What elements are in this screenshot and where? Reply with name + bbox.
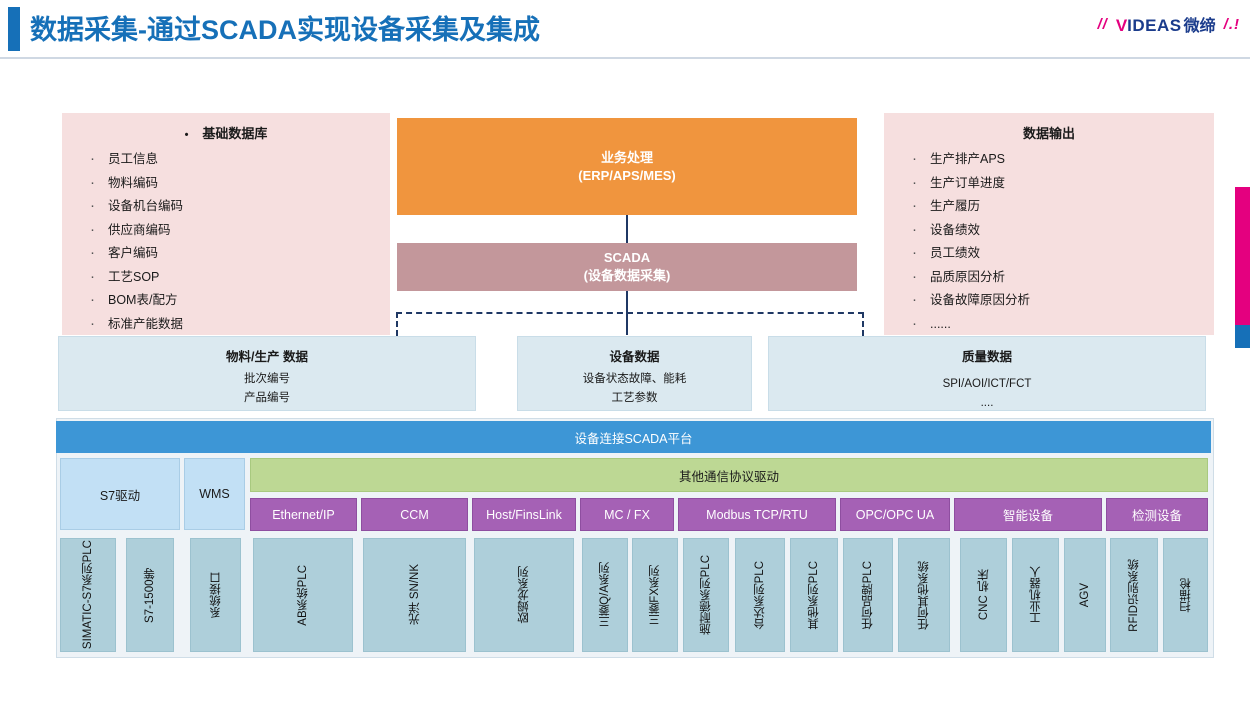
protocol-tile-inspection-device[interactable]: 检测设备	[1106, 498, 1208, 531]
list-item: 标准产能数据	[62, 313, 390, 337]
data-box-line: 工艺参数	[612, 389, 658, 408]
list-item: 设备机台编码	[62, 195, 390, 219]
protocol-tile-opc[interactable]: OPC/OPC UA	[840, 498, 950, 531]
business-processing-line2: (ERP/APS/MES)	[578, 167, 676, 185]
protocol-tile-host-finslink[interactable]: Host/FinsLink	[472, 498, 576, 531]
device-tile-industrial-robot[interactable]: 工业机器人	[1012, 538, 1059, 652]
scada-line1: SCADA	[604, 249, 650, 267]
list-item: BOM表/配方	[62, 289, 390, 313]
list-item: 物料编码	[62, 172, 390, 196]
device-tile-s7-1500[interactable]: S7-1500等	[126, 538, 174, 652]
device-tile-rfid[interactable]: RFID识别系统	[1110, 538, 1158, 652]
data-box-line: 设备状态故障、能耗	[583, 370, 687, 389]
data-output-panel: 数据输出 生产排产APS 生产订单进度 生产履历 设备绩效 员工绩效 品质原因分…	[884, 113, 1214, 335]
edge-accent-blue	[1235, 325, 1250, 348]
device-tile-label: SIMATIC-S7系列PLC	[81, 540, 95, 649]
base-database-title: •基础数据库	[62, 123, 390, 142]
page-title: 数据采集-通过SCADA实现设备采集及集成	[30, 8, 540, 47]
device-tile-label: RFID识别系统	[1127, 559, 1141, 632]
device-tile-label: 台达系列PLC	[753, 561, 767, 629]
device-tile-label: 任何品牌PLC	[861, 561, 875, 629]
list-item: 品质原因分析	[884, 266, 1214, 290]
device-tile-cnc[interactable]: CNC 机床	[960, 538, 1007, 652]
device-tile-label: 扫描枪	[1179, 578, 1193, 613]
scada-line2: (设备数据采集)	[584, 267, 671, 285]
list-item: 工艺SOP	[62, 266, 390, 290]
device-tile-any-other-system[interactable]: 任何其他系统	[898, 538, 950, 652]
device-tile-label: AB系统PLC	[296, 565, 310, 626]
device-tile-label: CNC 机床	[977, 569, 991, 620]
list-item: ......	[884, 313, 1214, 337]
device-tile-label: 工业机器人	[1029, 566, 1043, 624]
other-protocol-driver-label: 其他通信协议驱动	[251, 466, 1207, 485]
data-box-line: SPI/AOI/ICT/FCT	[943, 375, 1032, 394]
scada-block: SCADA (设备数据采集)	[397, 243, 857, 291]
data-box-title: 物料/生产 数据	[226, 346, 308, 365]
data-output-title: 数据输出	[884, 123, 1214, 142]
device-tile-simatic-s7[interactable]: SIMATIC-S7系列PLC	[60, 538, 116, 652]
page-header: 数据采集-通过SCADA实现设备采集及集成 // VIDEAS微缔 /.!	[0, 0, 1250, 58]
protocol-tile-mc-fx[interactable]: MC / FX	[580, 498, 674, 531]
device-tile-ab-plc[interactable]: AB系统PLC	[253, 538, 353, 652]
list-item: 员工绩效	[884, 242, 1214, 266]
base-database-title-text: 基础数据库	[202, 126, 267, 141]
device-tile-label: 任何其他系统	[917, 561, 931, 630]
list-item: 供应商编码	[62, 219, 390, 243]
header-accent-bar	[8, 7, 20, 51]
bullet-icon: •	[185, 129, 189, 141]
device-tile-agv[interactable]: AGV	[1064, 538, 1106, 652]
driver-tile-wms[interactable]: WMS	[184, 458, 245, 530]
list-item: 员工信息	[62, 148, 390, 172]
connector-business-to-scada	[626, 215, 628, 243]
business-processing-line1: 业务处理	[601, 149, 653, 167]
device-tile-label: 三菱FX系列	[648, 565, 662, 626]
device-tile-label: 三菱Q/A系列	[598, 562, 612, 628]
header-divider	[0, 57, 1250, 59]
device-tile-delta[interactable]: 台达系列PLC	[735, 538, 785, 652]
logo-cn-name: 微缔	[1184, 18, 1216, 35]
data-box-equipment: 设备数据 设备状态故障、能耗 工艺参数	[517, 336, 752, 411]
device-tile-label: S7-1500等	[143, 568, 157, 623]
data-box-quality: 质量数据 SPI/AOI/ICT/FCT ....	[768, 336, 1206, 411]
other-protocol-driver-bar: 其他通信协议驱动	[250, 458, 1208, 492]
protocol-tile-ethernet-ip[interactable]: Ethernet/IP	[250, 498, 357, 531]
device-tile-schneider[interactable]: 施耐德系列PLC	[683, 538, 729, 652]
device-tile-mitsubishi-qa[interactable]: 三菱Q/A系列	[582, 538, 628, 652]
platform-title-bar: 设备连接SCADA平台	[56, 421, 1211, 453]
list-item: 生产订单进度	[884, 172, 1214, 196]
protocol-tile-smart-device[interactable]: 智能设备	[954, 498, 1102, 531]
device-tile-label: 欧姆龙系列	[517, 566, 531, 624]
list-item: 生产履历	[884, 195, 1214, 219]
device-tile-label: 施耐德系列PLC	[699, 555, 713, 635]
list-item: 客户编码	[62, 242, 390, 266]
data-output-list: 生产排产APS 生产订单进度 生产履历 设备绩效 员工绩效 品质原因分析 设备故…	[884, 148, 1214, 336]
logo-v-mark-icon: V	[1116, 16, 1127, 35]
data-box-line: 产品编号	[244, 389, 290, 408]
base-database-list: 员工信息 物料编码 设备机台编码 供应商编码 客户编码 工艺SOP BOM表/配…	[62, 148, 390, 336]
data-box-material: 物料/生产 数据 批次编号 产品编号	[58, 336, 476, 411]
list-item: 设备绩效	[884, 219, 1214, 243]
list-item: 生产排产APS	[884, 148, 1214, 172]
device-tile-label: AGV	[1078, 583, 1092, 607]
list-item: 设备故障原因分析	[884, 289, 1214, 313]
device-tile-label: 其他系列PLC	[807, 561, 821, 629]
device-tile-any-brand-plc[interactable]: 任何品牌PLC	[843, 538, 893, 652]
device-tile-omron[interactable]: 欧姆龙系列	[474, 538, 574, 652]
data-box-line: 批次编号	[244, 370, 290, 389]
data-box-line: ....	[981, 394, 994, 413]
driver-tile-s7[interactable]: S7驱动	[60, 458, 180, 530]
edge-accent-magenta	[1235, 187, 1250, 325]
device-tile-scanner[interactable]: 扫描枪	[1163, 538, 1208, 652]
device-tile-label: 光洋 SN/NK	[408, 564, 422, 625]
protocol-tile-ccm[interactable]: CCM	[361, 498, 468, 531]
data-box-title: 质量数据	[962, 346, 1012, 365]
logo-slashes-right-icon: /.!	[1224, 16, 1240, 33]
logo-slashes-left-icon: //	[1097, 16, 1107, 33]
device-tile-system-interface[interactable]: 系统接口	[190, 538, 241, 652]
logo-wordmark: IDEAS	[1127, 16, 1181, 35]
base-database-panel: •基础数据库 员工信息 物料编码 设备机台编码 供应商编码 客户编码 工艺SOP…	[62, 113, 390, 335]
dashed-bracket-connector	[396, 312, 864, 336]
business-processing-block: 业务处理 (ERP/APS/MES)	[397, 118, 857, 215]
device-tile-other-series-plc[interactable]: 其他系列PLC	[790, 538, 838, 652]
protocol-tile-modbus[interactable]: Modbus TCP/RTU	[678, 498, 836, 531]
device-tile-label: 系统接口	[209, 572, 223, 618]
device-tile-mitsubishi-fx[interactable]: 三菱FX系列	[632, 538, 678, 652]
brand-logo: // VIDEAS微缔 /.!	[1097, 12, 1240, 36]
device-tile-koyo[interactable]: 光洋 SN/NK	[363, 538, 466, 652]
data-box-title: 设备数据	[609, 346, 659, 365]
